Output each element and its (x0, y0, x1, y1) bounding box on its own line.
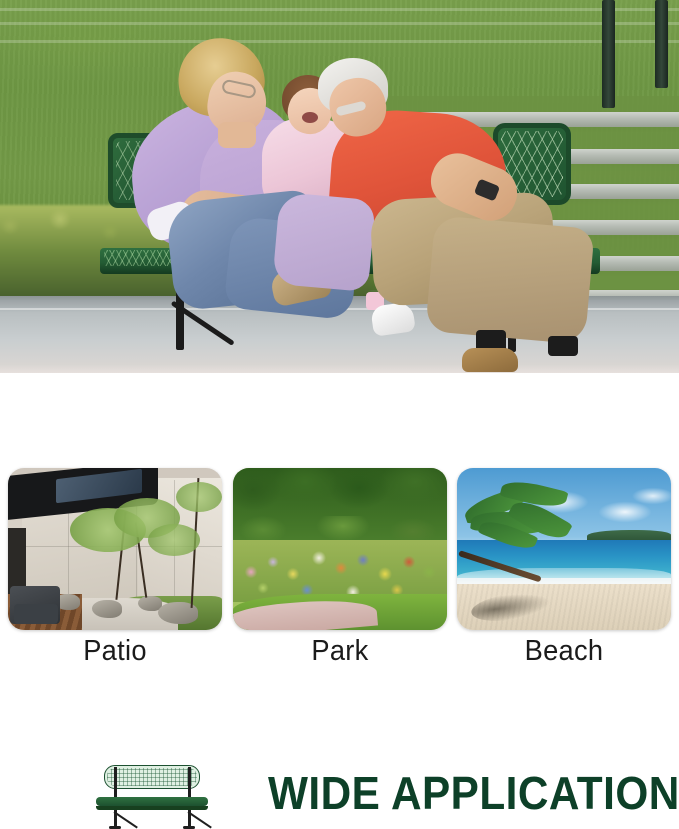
bench-icon-seat-edge (96, 806, 208, 810)
wide-application-band: WIDE APPLICATION (0, 373, 679, 465)
application-cards: Patio Park (0, 468, 679, 665)
outdoor-bench-icon (92, 763, 212, 829)
child-sneaker (370, 301, 416, 337)
background-path-line (0, 8, 679, 11)
bench-icon-backrest (104, 765, 200, 789)
bench-icon-post (188, 767, 191, 799)
application-card-park[interactable]: Park (233, 468, 447, 668)
lamp-post-icon (602, 0, 615, 108)
beach-scene (457, 468, 671, 630)
bench-icon-post (114, 767, 117, 799)
lamp-post-icon (655, 0, 668, 88)
application-card-beach[interactable]: Beach (457, 468, 671, 668)
patio-scene (8, 468, 222, 630)
hero-photo (0, 0, 679, 373)
card-label-beach: Beach (463, 635, 664, 668)
park-scene (233, 468, 447, 630)
beach-thumbnail[interactable] (457, 468, 671, 630)
card-label-park: Park (239, 635, 440, 668)
patio-thumbnail[interactable] (8, 468, 222, 630)
grandfather-sock (548, 336, 578, 356)
application-card-patio[interactable]: Patio (8, 468, 222, 668)
card-label-patio: Patio (14, 635, 215, 668)
park-thumbnail[interactable] (233, 468, 447, 630)
bench-icon-seat (96, 797, 208, 806)
grandmother-neck (218, 122, 256, 148)
child-pants (272, 192, 376, 292)
grandfather-trousers-lower (425, 215, 595, 345)
page-title: WIDE APPLICATION (268, 766, 679, 820)
child-mouth (302, 112, 318, 123)
grandfather-shoe (462, 348, 518, 372)
